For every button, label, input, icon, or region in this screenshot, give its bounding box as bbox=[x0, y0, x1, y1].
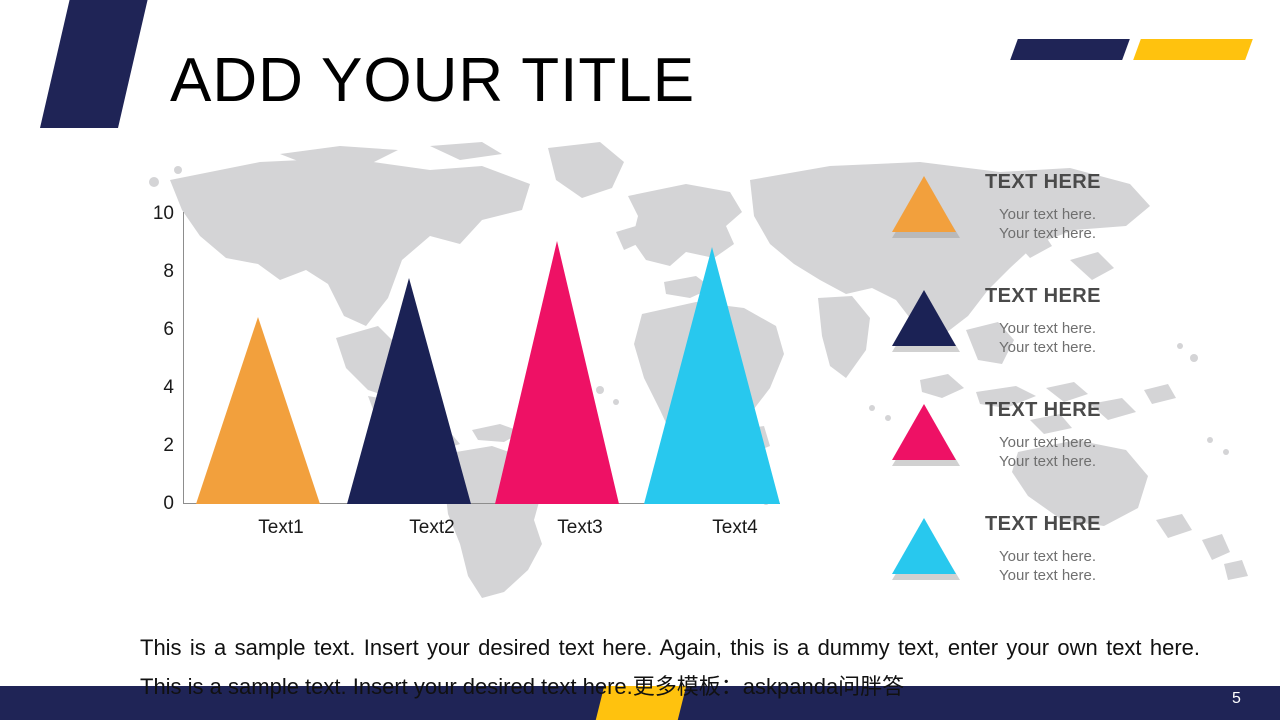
slide-canvas: ADD YOUR TITLE bbox=[0, 0, 1280, 720]
legend-item-2[interactable]: TEXT HERE Your text here. Your text here… bbox=[885, 284, 1280, 398]
bar-triangle-text4 bbox=[644, 247, 780, 504]
bar-triangle-text3 bbox=[495, 241, 619, 504]
legend-item-3-text: TEXT HERE Your text here. Your text here… bbox=[985, 398, 1280, 471]
legend-item-3[interactable]: TEXT HERE Your text here. Your text here… bbox=[885, 398, 1280, 512]
x-axis-tick-labels: Text1 Text2 Text3 Text4 bbox=[183, 517, 783, 547]
x-label-text3: Text3 bbox=[490, 517, 670, 539]
legend-item-4[interactable]: TEXT HERE Your text here. Your text here… bbox=[885, 512, 1280, 626]
y-tick-8: 8 bbox=[116, 262, 174, 281]
y-axis-line bbox=[183, 212, 184, 503]
top-right-gold-bar bbox=[1133, 39, 1253, 60]
legend-item-3-heading: TEXT HERE bbox=[985, 398, 1280, 422]
x-label-text4: Text4 bbox=[645, 517, 825, 539]
triangle-icon bbox=[890, 404, 960, 466]
legend-item-1-text: TEXT HERE Your text here. Your text here… bbox=[985, 170, 1280, 243]
y-axis-tick-labels: 10 8 6 4 2 0 bbox=[110, 195, 174, 520]
triangle-icon bbox=[890, 176, 960, 238]
legend-item-2-line2: Your text here. bbox=[999, 338, 1280, 357]
legend-item-3-body: Your text here. Your text here. bbox=[999, 433, 1280, 471]
triangle-icon bbox=[890, 518, 960, 580]
legend-item-1-line2: Your text here. bbox=[999, 224, 1280, 243]
bar-triangle-text2 bbox=[347, 278, 471, 504]
legend-item-2-body: Your text here. Your text here. bbox=[999, 319, 1280, 357]
top-right-navy-bar bbox=[1010, 39, 1130, 60]
page-title: ADD YOUR TITLE bbox=[170, 42, 695, 120]
y-tick-2: 2 bbox=[116, 436, 174, 455]
legend-item-2-text: TEXT HERE Your text here. Your text here… bbox=[985, 284, 1280, 357]
legend-item-1-heading: TEXT HERE bbox=[985, 170, 1280, 194]
legend-item-4-line1: Your text here. bbox=[999, 547, 1280, 566]
legend-item-1-line1: Your text here. bbox=[999, 205, 1280, 224]
legend-item-4-heading: TEXT HERE bbox=[985, 512, 1280, 536]
y-tick-0: 0 bbox=[116, 494, 174, 513]
y-tick-6: 6 bbox=[116, 320, 174, 339]
body-paragraph: This is a sample text. Insert your desir… bbox=[140, 628, 1200, 706]
page-number: 5 bbox=[1232, 690, 1262, 708]
legend-item-3-line2: Your text here. bbox=[999, 452, 1280, 471]
triangle-icon bbox=[890, 290, 960, 352]
legend-item-2-heading: TEXT HERE bbox=[985, 284, 1280, 308]
legend-item-1[interactable]: TEXT HERE Your text here. Your text here… bbox=[885, 170, 1280, 284]
legend-list: TEXT HERE Your text here. Your text here… bbox=[885, 170, 1280, 610]
triangle-bar-chart: 10 8 6 4 2 0 Text1 Text2 Text3 Text4 bbox=[110, 195, 810, 555]
legend-item-4-line2: Your text here. bbox=[999, 566, 1280, 585]
legend-item-3-line1: Your text here. bbox=[999, 433, 1280, 452]
legend-item-2-line1: Your text here. bbox=[999, 319, 1280, 338]
bar-triangle-text1 bbox=[196, 317, 320, 504]
y-tick-10: 10 bbox=[116, 204, 174, 223]
legend-item-4-body: Your text here. Your text here. bbox=[999, 547, 1280, 585]
legend-item-1-body: Your text here. Your text here. bbox=[999, 205, 1280, 243]
legend-item-4-text: TEXT HERE Your text here. Your text here… bbox=[985, 512, 1280, 585]
corner-accent-shape bbox=[40, 0, 148, 128]
y-tick-4: 4 bbox=[116, 378, 174, 397]
